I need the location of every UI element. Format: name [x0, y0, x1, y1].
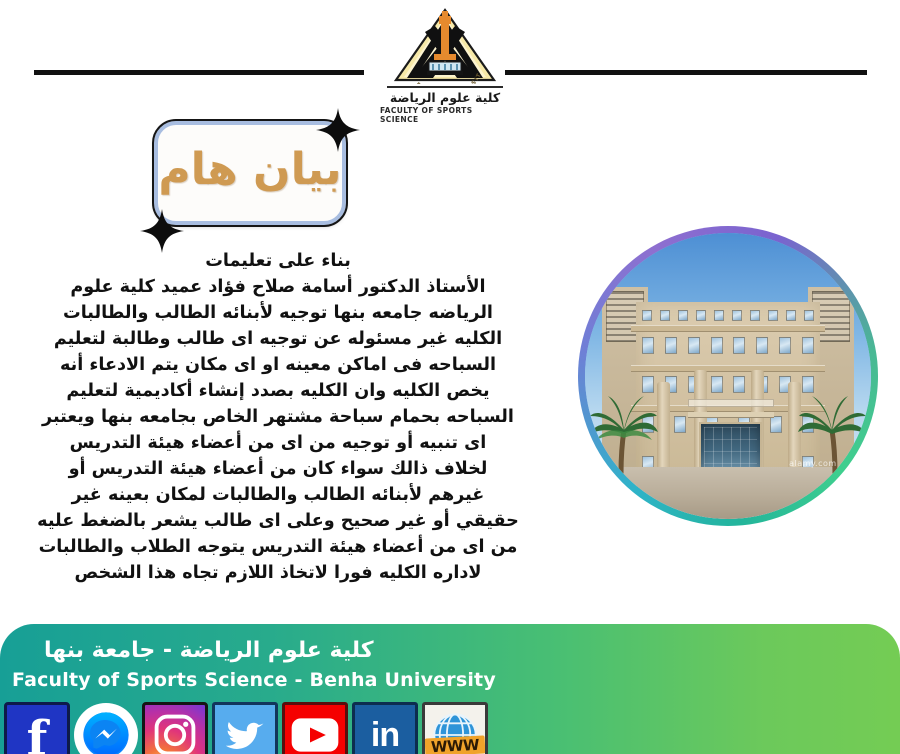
poster-footer: كلية علوم الرياضة - جامعة بنها Faculty o… [0, 624, 900, 754]
statement-line: من اى من أعضاء هيئة التدريس يتوجه الطلاب… [18, 534, 538, 560]
statement-line: حقيقي أو غير صحيح وعلى اى طالب يشعر بالض… [18, 508, 538, 534]
sparkle-icon [140, 209, 184, 253]
facebook-glyph: f [27, 719, 48, 754]
www-label: WWW [425, 735, 486, 754]
facade-column [657, 382, 670, 479]
statement-line: الكليه غير مسئوله عن توجيه اى طالب وطالب… [18, 326, 538, 352]
linkedin-icon[interactable]: in [352, 702, 418, 754]
building-sign [688, 399, 774, 407]
building-photo: alamy.com [585, 233, 871, 519]
statement-body: بناء على تعليمات الأستاذ الدكتور أسامة ص… [18, 248, 538, 586]
footer-title-en: Faculty of Sports Science - Benha Univer… [12, 669, 496, 691]
window-row [642, 310, 814, 321]
linkedin-glyph: in [371, 716, 399, 754]
youtube-icon[interactable] [282, 702, 348, 754]
badge-label: بيان هام [158, 148, 341, 198]
statement-line: لاداره الكليه فورا لاتخاذ اللازم تجاه هذ… [18, 560, 538, 586]
statement-line: الرياضه جامعه بنها توجيه لأبنائه الطالب … [18, 300, 538, 326]
statement-line: يخص الكليه وان الكليه بصدد إنشاء أكاديمي… [18, 378, 538, 404]
statement-line: بناء على تعليمات [18, 248, 538, 274]
messenger-icon[interactable] [74, 703, 138, 754]
faculty-logo: BENHA UNIVERSITY كلية علوم الرياضة FACUL… [380, 8, 510, 126]
header-rule-left [34, 70, 364, 75]
statement-line: السباحه بحمام سباحة مشتهر الخاص بجامعه ب… [18, 404, 538, 430]
logo-faculty-name-ar: كلية علوم الرياضة [390, 91, 500, 105]
poster-header: BENHA UNIVERSITY كلية علوم الرياضة FACUL… [0, 0, 900, 128]
globe-www-icon[interactable]: WWW [422, 702, 488, 754]
statement-line: لخلاف ذالك سواء كان من أعضاء هيئة التدري… [18, 456, 538, 482]
statement-line: الأستاذ الدكتور أسامة صلاح فؤاد عميد كلي… [18, 274, 538, 300]
instagram-icon[interactable] [142, 702, 208, 754]
sparkle-icon [316, 108, 360, 152]
window-row [642, 337, 814, 354]
entrance-canopy [688, 412, 774, 418]
twitter-icon[interactable] [212, 702, 278, 754]
palm-tree-icon [798, 372, 868, 502]
facade-band [631, 325, 825, 332]
statement-line: السباحه فى اماكن معينه او اى مكان يتم ال… [18, 352, 538, 378]
benha-university-pyramid-icon: BENHA UNIVERSITY [393, 8, 497, 84]
facebook-icon[interactable]: f [4, 702, 70, 754]
logo-faculty-name-en: FACULTY OF SPORTS SCIENCE [380, 106, 510, 124]
statement-line: اى تنبيه أو توجيه من اى من أعضاء هيئة ال… [18, 430, 538, 456]
palm-tree-icon [588, 372, 658, 502]
header-rule-right [505, 70, 867, 75]
facade-band [631, 365, 825, 372]
social-links: f [4, 702, 488, 754]
building-photo-ring: alamy.com [578, 226, 878, 526]
important-notice-badge: بيان هام [140, 108, 360, 253]
announcement-poster: BENHA UNIVERSITY كلية علوم الرياضة FACUL… [0, 0, 900, 754]
statement-line: غيرهم لأبنائه الطالب والطالبات لمكان بعي… [18, 482, 538, 508]
photo-watermark: alamy.com [789, 459, 837, 468]
footer-title-ar: كلية علوم الرياضة - جامعة بنها [44, 638, 374, 663]
logo-divider [387, 86, 503, 88]
